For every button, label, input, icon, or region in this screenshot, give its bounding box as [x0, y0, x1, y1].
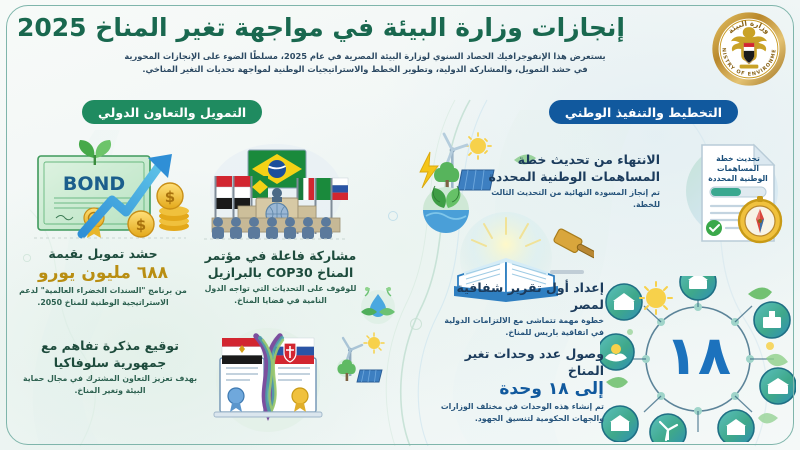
finance-item-2: مشاركة فاعلة في مؤتمر المناخ COP30 بالبر… — [198, 248, 363, 307]
section-header-finance: التمويل والتعاون الدولي — [82, 100, 262, 124]
finance-item-3-title: توقيع مذكرة تفاهم مع جمهورية سلوفاكيا — [22, 338, 198, 371]
national-item-2-sub: خطوة مهمة تتماشى مع الالتزامات الدولية ف… — [436, 315, 604, 339]
finance-item-3: توقيع مذكرة تفاهم مع جمهورية سلوفاكيا به… — [22, 338, 198, 397]
national-item-1-sub: تم إنجاز المسودة النهائية من التحديث الث… — [470, 187, 660, 211]
infographic-canvas: إنجازات وزارة البيئة في مواجهة تغير المن… — [0, 0, 800, 450]
page-title: إنجازات وزارة البيئة في مواجهة تغير المن… — [95, 14, 625, 42]
national-item-1-title: الانتهاء من تحديث خطة المساهمات الوطنية … — [470, 152, 660, 185]
svg-text:$: $ — [136, 216, 146, 234]
national-item-3-accent: إلى ١٨ وحدة — [434, 379, 604, 399]
svg-text:BOND: BOND — [63, 173, 125, 195]
cop30-conference-illustration — [198, 140, 353, 242]
mou-slovakia-illustration — [206, 324, 330, 436]
national-item-2: إعداد أول تقرير شفافية لمصر خطوة مهمة تت… — [436, 280, 604, 339]
climate-units-network-illustration: ١٨ — [600, 276, 796, 442]
national-item-3-title: وصول عدد وحدات تغير المناخ — [434, 346, 604, 379]
ndc-doc-line-3: الوطنية المحددة — [708, 174, 768, 183]
finance-item-2-title: مشاركة فاعلة في مؤتمر المناخ COP30 بالبر… — [198, 248, 363, 281]
bond-certificate-illustration: BOND $ $ — [26, 138, 196, 243]
national-item-2-title: إعداد أول تقرير شفافية لمصر — [436, 280, 604, 313]
header: إنجازات وزارة البيئة في مواجهة تغير المن… — [0, 6, 800, 98]
finance-item-1: حشد تمويل بقيمة ٦٨٨ مليون يورو من برنامج… — [8, 246, 198, 309]
svg-text:$: $ — [165, 188, 175, 206]
ndc-document-compass-illustration: تحديث خطة المساهمات الوطنية المحددة — [682, 133, 792, 253]
national-item-3: وصول عدد وحدات تغير المناخ إلى ١٨ وحدة ت… — [434, 346, 604, 425]
finance-item-2-sub: للوقوف على التحديات التي تواجه الدول الن… — [198, 283, 363, 307]
finance-item-1-sub: من برنامج "السندات الخضراء العالمية" لدع… — [8, 285, 198, 309]
ndc-doc-line-2: المساهمات — [717, 164, 759, 173]
page-subtitle: يستعرض هذا الإنفوجرافيك الحصاد السنوي لو… — [120, 50, 610, 76]
finance-item-1-title: حشد تمويل بقيمة — [8, 246, 198, 263]
national-item-3-sub: تم إنشاء هذه الوحدات في مختلف الوزارات و… — [434, 401, 604, 425]
climate-units-count: ١٨ — [665, 324, 731, 387]
finance-item-1-accent: ٦٨٨ مليون يورو — [8, 263, 198, 283]
renewable-energy-cluster-icon — [334, 330, 386, 386]
section-header-national: التخطيط والتنفيذ الوطني — [549, 100, 738, 124]
national-item-1: الانتهاء من تحديث خطة المساهمات الوطنية … — [470, 152, 660, 211]
ndc-doc-line-1: تحديث خطة — [716, 154, 760, 163]
finance-item-3-sub: بهدف تعزيز التعاون المشترك في مجال حماية… — [22, 373, 198, 397]
ministry-of-environment-logo: وزارة البيئة MINISTRY OF ENVIRONMENT — [710, 10, 788, 88]
